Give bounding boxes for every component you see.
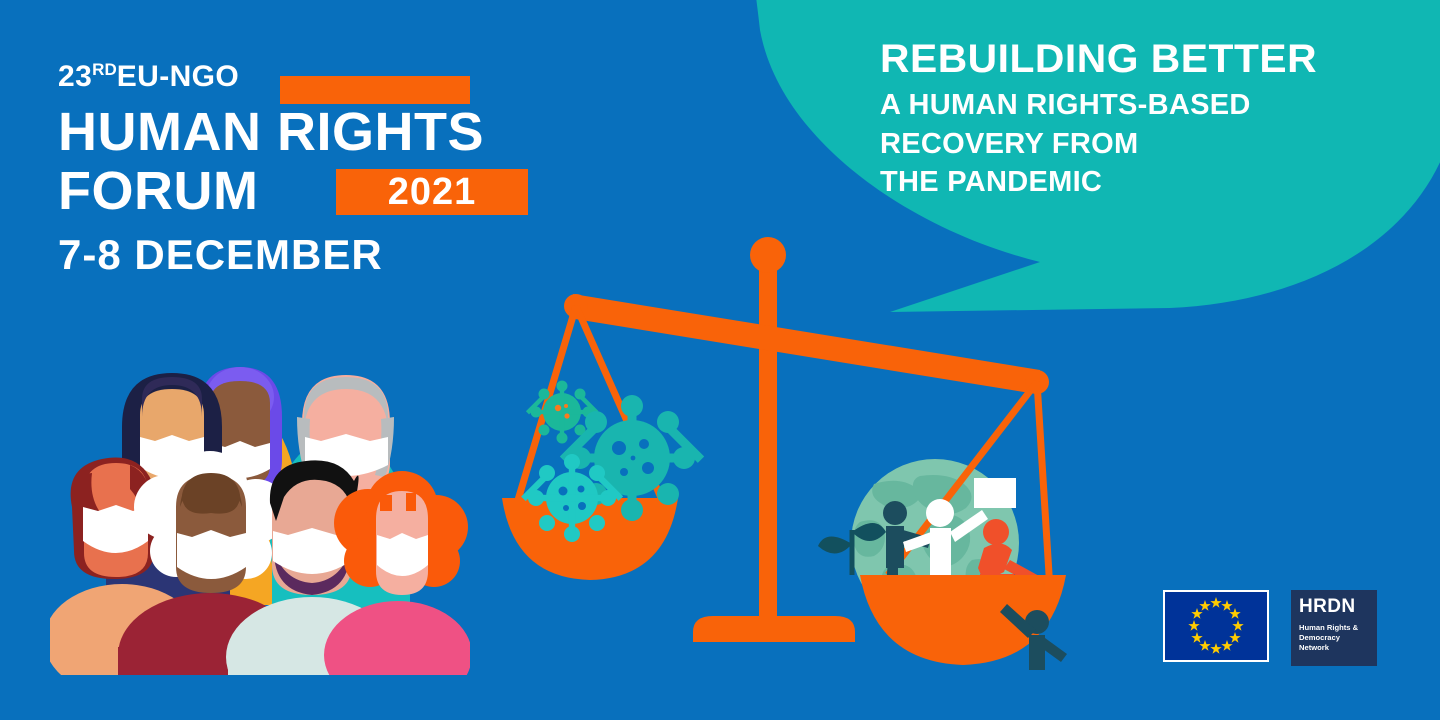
orange-accent-bar	[280, 76, 470, 104]
protest-sign	[974, 478, 1016, 508]
bubble-subline-1: A HUMAN RIGHTS-BASED	[880, 86, 1400, 124]
masked-people-group	[50, 355, 470, 680]
forum-word: FORUM	[58, 163, 258, 220]
headline-row-forum: FORUM 2021	[58, 163, 618, 223]
bubble-headline: REBUILDING BETTER	[880, 38, 1410, 80]
headline-row-edition: 23RDEU-NGO	[58, 60, 618, 98]
face-mask	[177, 530, 246, 579]
right-pan	[818, 382, 1067, 670]
edition-label: 23RDEU-NGO	[58, 60, 239, 94]
year-label: 2021	[388, 171, 477, 214]
logo-strip: HRDN Human Rights & Democracy Network	[1163, 590, 1377, 666]
event-dates: 7-8 DECEMBER	[58, 231, 618, 279]
bubble-text-block: REBUILDING BETTER A HUMAN RIGHTS-BASED R…	[880, 38, 1400, 201]
bubble-subline-2: RECOVERY FROM	[880, 125, 1400, 163]
hrdn-logo: HRDN Human Rights & Democracy Network	[1291, 590, 1377, 666]
hrdn-name-line-1: Human Rights &	[1299, 623, 1370, 633]
scales-svg	[480, 230, 1100, 670]
scale-beam	[564, 294, 1049, 394]
event-headline: 23RDEU-NGO HUMAN RIGHTS FORUM 2021 7-8 D…	[58, 60, 618, 279]
justice-scales	[480, 230, 1100, 675]
edition-number: 23	[58, 60, 92, 93]
hrdn-full-name: Human Rights & Democracy Network	[1299, 623, 1370, 653]
eu-flag-stars	[1165, 592, 1267, 660]
hrdn-name-line-2: Democracy	[1299, 633, 1370, 643]
year-badge: 2021	[336, 169, 528, 215]
poster-canvas: REBUILDING BETTER A HUMAN RIGHTS-BASED R…	[0, 0, 1440, 720]
face-mask	[377, 533, 428, 576]
organisation-label: EU-NGO	[117, 60, 239, 93]
bubble-subline-3: THE PANDEMIC	[880, 163, 1400, 201]
european-union-flag	[1163, 590, 1269, 662]
scale-stand	[693, 237, 855, 642]
people-group-svg	[50, 355, 470, 675]
hrdn-name-line-3: Network	[1299, 643, 1370, 653]
edition-ordinal: RD	[92, 60, 117, 79]
forum-title-line: HUMAN RIGHTS	[58, 104, 618, 161]
hrdn-acronym: HRDN	[1299, 597, 1370, 616]
scale-knob	[750, 237, 786, 273]
